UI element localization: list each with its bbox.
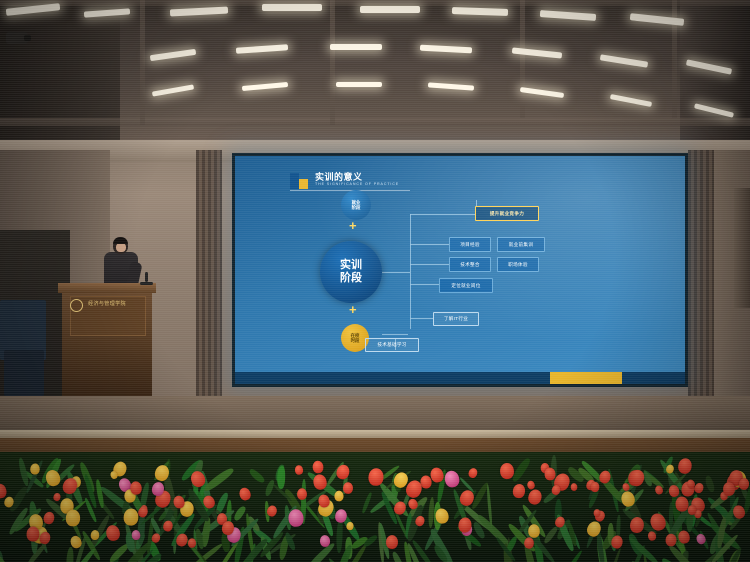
flower [723, 482, 735, 496]
flower [294, 465, 303, 475]
node-line-2: 阶段 [340, 272, 362, 285]
flower [27, 526, 40, 541]
slide-box-position-targeting: 定位就业岗位 [439, 278, 493, 293]
ceiling-beam [140, 0, 145, 125]
flower [66, 509, 81, 526]
speaker-face [116, 243, 126, 252]
slide-box-project-experience: 项目经验 [449, 237, 491, 252]
flower [288, 509, 304, 528]
flower [571, 483, 578, 491]
slide-box-highlight: 提升就业竞争力 [475, 206, 539, 221]
flower [343, 482, 353, 494]
plus-symbol-bottom: + [349, 302, 357, 317]
leaf [248, 468, 266, 484]
flower [238, 486, 253, 502]
flower [334, 490, 343, 501]
connector-line [410, 264, 450, 265]
flower [124, 508, 140, 526]
slide-box-pre-employment-training: 就业前集训 [497, 237, 545, 252]
flower [346, 521, 354, 530]
flower [527, 488, 544, 506]
flower [526, 480, 535, 490]
flower [512, 483, 526, 499]
ceiling-light-strip [336, 82, 382, 87]
node-line-2: 阶段 [352, 205, 361, 211]
leaf [390, 551, 404, 562]
speaker-hair [113, 237, 128, 244]
ceiling-light-strip [360, 6, 420, 13]
ceiling-left-shadow [0, 0, 120, 150]
leaf [704, 475, 716, 493]
flower [610, 535, 623, 550]
ceiling-light-strip [330, 44, 382, 50]
flower [90, 529, 100, 540]
node-line-2: 时段 [351, 338, 360, 344]
flower [687, 505, 695, 515]
air-conditioner-unit [734, 188, 750, 308]
flower [524, 537, 534, 549]
flower [385, 535, 397, 549]
connector-line [382, 272, 410, 273]
slide-logo-mark [290, 173, 308, 189]
slide-footer-bar [235, 372, 685, 384]
flower [30, 464, 40, 476]
leaf [277, 466, 285, 489]
flower [129, 481, 142, 495]
connector-line [410, 284, 440, 285]
slide-box-understand-it-industry: 了解IT行业 [433, 312, 479, 326]
flower [594, 509, 601, 517]
flower [629, 517, 645, 535]
node-line-1: 实训 [340, 259, 362, 272]
ceiling-right-shadow [680, 0, 750, 150]
leaf [66, 547, 74, 562]
security-camera-icon [6, 32, 28, 44]
flower [544, 467, 556, 481]
connector-line [382, 334, 408, 335]
flower [105, 524, 121, 542]
presentation-slide: 实训的意义 THE SIGNIFICANCE OF PRACTICE 就业 阶段 [235, 156, 685, 384]
ceiling-light-strip [262, 4, 322, 11]
connector-line [410, 214, 476, 215]
flower [367, 467, 383, 486]
leaf [232, 505, 246, 522]
connector-line [410, 244, 450, 245]
flower [467, 467, 479, 479]
flower [297, 488, 307, 499]
flower [693, 482, 705, 495]
connector-line [410, 214, 411, 329]
connector-line [410, 318, 434, 319]
slide-box-tech-basics: 技术基础学习 [365, 338, 419, 352]
flower [528, 524, 540, 538]
flower [665, 534, 676, 547]
podium-label: 经济与管理学院 [74, 300, 140, 307]
node-training-stage: 实训 阶段 [320, 241, 382, 303]
photo-scene: 实训的意义 THE SIGNIFICANCE OF PRACTICE 就业 阶段 [0, 0, 750, 562]
chair [4, 350, 44, 396]
curtain-right [688, 150, 714, 420]
ceiling-beam [520, 0, 525, 118]
flower [675, 496, 689, 512]
projection-screen: 实训的意义 THE SIGNIFICANCE OF PRACTICE 就业 阶段 [232, 153, 688, 387]
slide-box-workplace-experience: 职场体验 [497, 257, 539, 272]
leaf [264, 479, 275, 497]
leaf [561, 549, 583, 562]
flower [312, 460, 324, 473]
flower [443, 470, 460, 489]
microphone-icon [140, 272, 154, 288]
node-employment-stage: 就业 阶段 [341, 190, 371, 220]
slide-subtitle: THE SIGNIFICANCE OF PRACTICE [315, 182, 399, 186]
ceiling-beam [0, 118, 750, 126]
slide-box-tech-integration: 技术整合 [449, 257, 491, 272]
flower [677, 457, 693, 475]
curtain-left [196, 150, 222, 420]
ceiling-beam [330, 0, 335, 125]
leaf [362, 533, 379, 548]
flower [42, 511, 55, 526]
leaf [0, 536, 10, 562]
flower-bed [0, 452, 750, 562]
plus-symbol-top: + [349, 218, 357, 233]
